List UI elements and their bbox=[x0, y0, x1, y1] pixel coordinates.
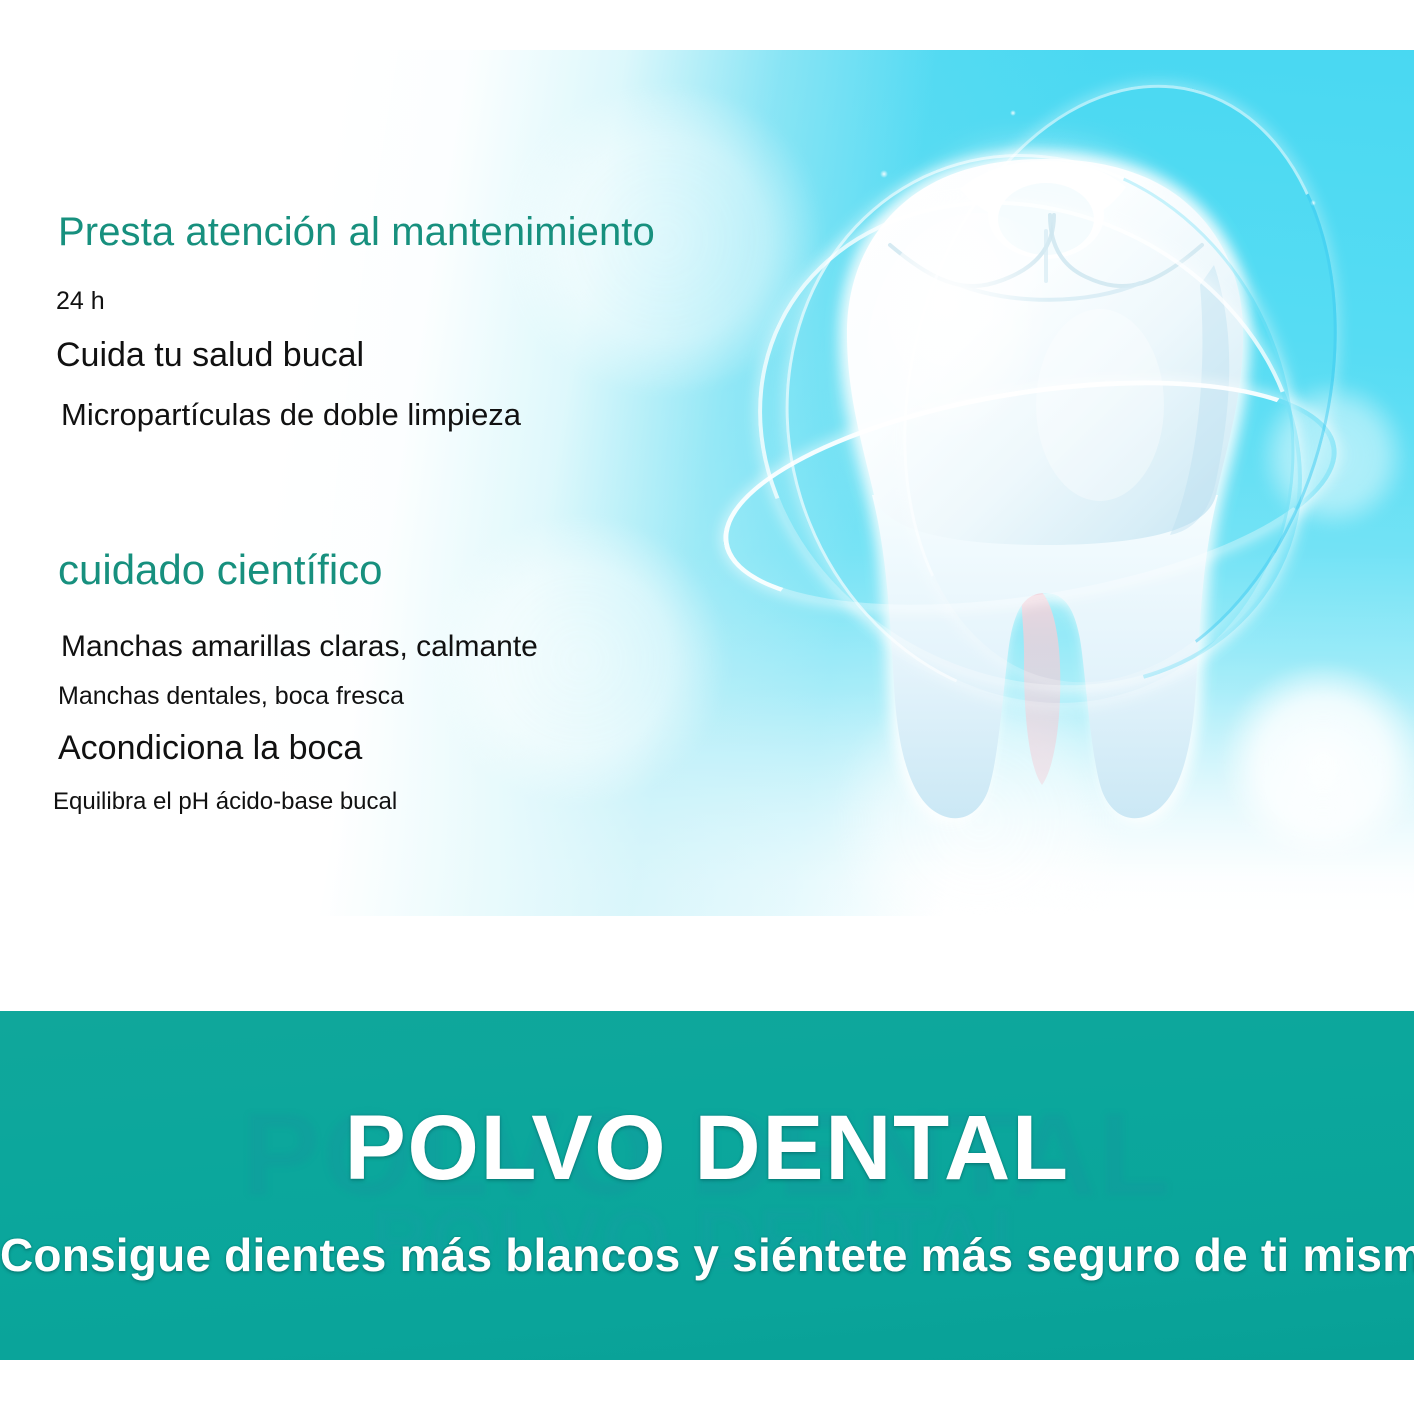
banner-title: POLVO DENTAL bbox=[0, 1096, 1414, 1201]
tooth-illustration bbox=[760, 90, 1320, 880]
section1-line-3: Micropartículas de doble limpieza bbox=[61, 397, 521, 433]
section2-line-2: Manchas dentales, boca fresca bbox=[58, 682, 404, 711]
section1-line-1: 24 h bbox=[56, 287, 105, 316]
banner-subtitle: Consigue dientes más blancos y siéntete … bbox=[0, 1228, 1414, 1282]
section2-heading: cuidado científico bbox=[58, 546, 383, 594]
section2-line-3: Acondiciona la boca bbox=[58, 729, 362, 768]
section2-line-4: Equilibra el pH ácido-base bucal bbox=[53, 788, 397, 816]
section2-line-1: Manchas amarillas claras, calmante bbox=[61, 630, 538, 664]
section1-line-2: Cuida tu salud bucal bbox=[56, 336, 364, 375]
product-infographic-page: Presta atención al mantenimiento 24 h Cu… bbox=[0, 0, 1414, 1414]
hero-image-region bbox=[0, 50, 1414, 916]
section1-heading: Presta atención al mantenimiento bbox=[58, 210, 655, 255]
